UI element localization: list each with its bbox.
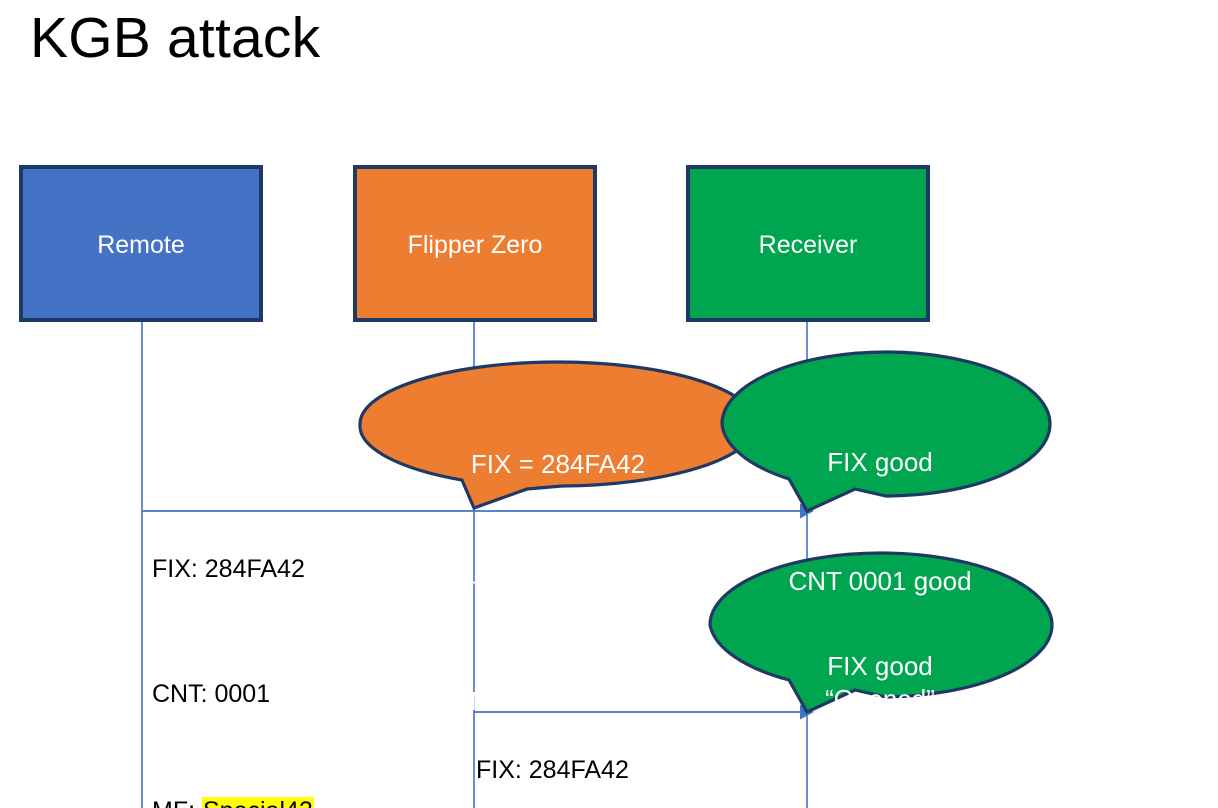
message-1-mf-value: Special42 [202,797,314,808]
message-1-mf-label: MF: [152,797,202,808]
actor-label-remote: Remote [21,231,261,260]
message-1-mf: MF: Special42 [152,792,314,808]
message-1-fix: FIX: 284FA42 [152,550,314,589]
actor-label-receiver: Receiver [688,231,928,260]
message-1-cnt: CNT: 0001 [152,675,314,714]
message-2-labels: FIX: 284FA42 CNT: 0002 MF: KGB [476,673,629,808]
message-2-fix: FIX: 284FA42 [476,751,629,790]
callout-flipper [360,362,756,508]
callout-receiver-2 [710,553,1052,712]
slide-canvas: KGB attack Re [0,0,1218,808]
actor-label-flipper: Flipper Zero [355,231,595,260]
message-1-labels: FIX: 284FA42 CNT: 0001 MF: Special42 [152,472,314,808]
callout-receiver-1 [722,352,1050,511]
